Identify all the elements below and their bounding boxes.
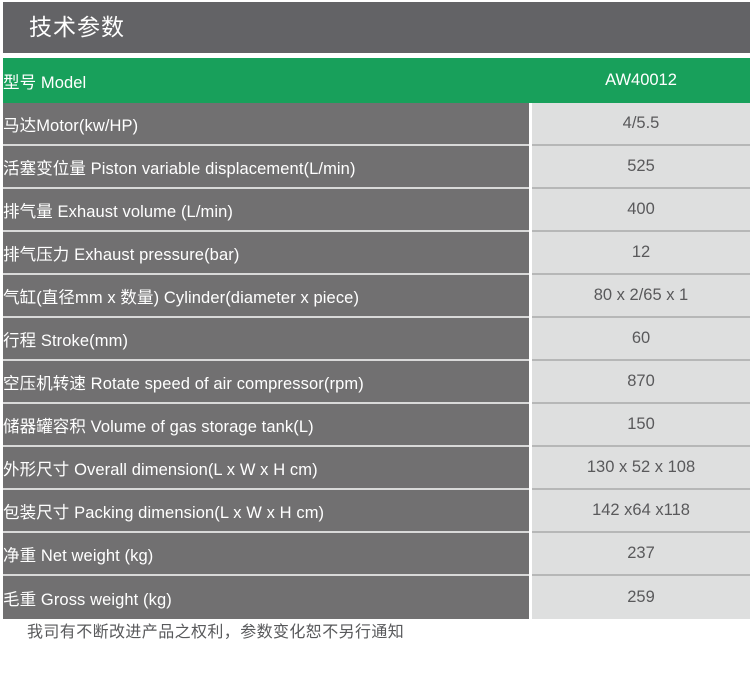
spec-value: 870 (532, 361, 750, 404)
spec-value: 142 x64 x118 (532, 490, 750, 533)
spec-label: 储器罐容积 Volume of gas storage tank(L) (3, 404, 529, 447)
table-row: 毛重 Gross weight (kg)259 (3, 576, 750, 619)
spec-value: 525 (532, 146, 750, 189)
spec-label: 毛重 Gross weight (kg) (3, 576, 529, 619)
spec-label: 排气压力 Exhaust pressure(bar) (3, 232, 529, 275)
spec-value: 237 (532, 533, 750, 576)
table-row: 储器罐容积 Volume of gas storage tank(L)150 (3, 404, 750, 447)
table-row: 马达Motor(kw/HP)4/5.5 (3, 103, 750, 146)
table-header-value: AW40012 (532, 58, 750, 103)
spec-label: 气缸(直径mm x 数量) Cylinder(diameter x piece) (3, 275, 529, 318)
spec-value: 259 (532, 576, 750, 619)
footer-note: 我司有不断改进产品之权利，参数变化恕不另行通知 (27, 618, 404, 642)
table-body: 型号 Model AW40012 马达Motor(kw/HP)4/5.5活塞变位… (3, 58, 750, 619)
table-row: 气缸(直径mm x 数量) Cylinder(diameter x piece)… (3, 275, 750, 318)
table-row: 空压机转速 Rotate speed of air compressor(rpm… (3, 361, 750, 404)
table-header-label: 型号 Model (3, 58, 529, 103)
table-row: 行程 Stroke(mm)60 (3, 318, 750, 361)
table-row: 活塞变位量 Piston variable displacement(L/min… (3, 146, 750, 189)
spec-value: 12 (532, 232, 750, 275)
table-row: 排气量 Exhaust volume (L/min)400 (3, 189, 750, 232)
table-row: 排气压力 Exhaust pressure(bar)12 (3, 232, 750, 275)
spec-value: 60 (532, 318, 750, 361)
table-header-row: 型号 Model AW40012 (3, 58, 750, 103)
spec-sheet: 技术参数 型号 Model AW40012 马达Motor(kw/HP)4/5.… (0, 0, 750, 674)
spec-label: 行程 Stroke(mm) (3, 318, 529, 361)
spec-label: 活塞变位量 Piston variable displacement(L/min… (3, 146, 529, 189)
spec-label: 包装尺寸 Packing dimension(L x W x H cm) (3, 490, 529, 533)
spec-label: 净重 Net weight (kg) (3, 533, 529, 576)
spec-label: 排气量 Exhaust volume (L/min) (3, 189, 529, 232)
spec-label: 外形尺寸 Overall dimension(L x W x H cm) (3, 447, 529, 490)
table-row: 外形尺寸 Overall dimension(L x W x H cm)130 … (3, 447, 750, 490)
table-row: 净重 Net weight (kg)237 (3, 533, 750, 576)
spec-value: 4/5.5 (532, 103, 750, 146)
section-title-band: 技术参数 (3, 2, 750, 53)
spec-value: 80 x 2/65 x 1 (532, 275, 750, 318)
page-title: 技术参数 (3, 16, 125, 39)
spec-value: 400 (532, 189, 750, 232)
spec-label: 空压机转速 Rotate speed of air compressor(rpm… (3, 361, 529, 404)
spec-value: 150 (532, 404, 750, 447)
specifications-table: 型号 Model AW40012 马达Motor(kw/HP)4/5.5活塞变位… (3, 58, 750, 619)
table-row: 包装尺寸 Packing dimension(L x W x H cm)142 … (3, 490, 750, 533)
spec-value: 130 x 52 x 108 (532, 447, 750, 490)
spec-label: 马达Motor(kw/HP) (3, 103, 529, 146)
